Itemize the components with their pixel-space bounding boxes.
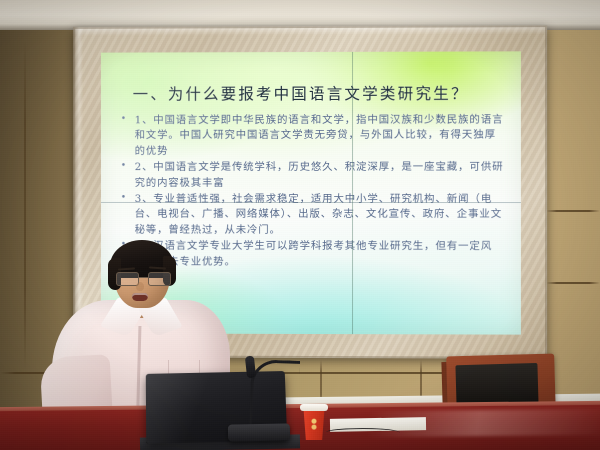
cup-pattern	[309, 417, 319, 431]
microphone-gooseneck	[249, 359, 300, 432]
screen-panel-seam-horizontal	[101, 202, 521, 203]
lecture-photo-scene: 一、为什么要报考中国语言文学类研究生？ 1、中国语言文学即中华民族的语言和文学，…	[0, 0, 600, 450]
wall-panel-seam	[546, 210, 600, 212]
slide-bullet: 2、中国语言文学是传统学科，历史悠久、积淀深厚，是一座宝藏，可供研究的内容极其丰…	[119, 160, 507, 191]
slide-bullet-list: 1、中国语言文学即中华民族的语言和文学，指中国汉族和少数民族的语言和文学。中国人…	[119, 113, 507, 271]
presenter-mouth	[132, 293, 148, 301]
glasses-lens-right	[148, 272, 171, 286]
slide-title: 一、为什么要报考中国语言文学类研究生？	[133, 82, 507, 105]
presenter-nose	[136, 282, 144, 291]
paper-cup-rim	[300, 404, 328, 411]
wall-panel-seam	[546, 282, 600, 284]
wall-panel-seam	[24, 40, 26, 370]
slide-bullet: 1、中国语言文学即中华民族的语言和文学，指中国汉族和少数民族的语言和文学。中国人…	[119, 113, 507, 160]
slide-bullet: 3、专业普适性强，社会需求稳定，适用大中小学、研究机构、新闻（电台、电视台、广播…	[119, 192, 507, 238]
cable	[326, 427, 400, 437]
slide-bullet: 4、汉语言文学专业大学生可以跨学科报考其他专业研究生，但有一定风险，失去专业优势…	[119, 239, 507, 270]
screen-panel-seam-vertical	[352, 52, 353, 334]
chair-backrest-pad	[455, 363, 538, 405]
microphone-base	[228, 423, 290, 441]
